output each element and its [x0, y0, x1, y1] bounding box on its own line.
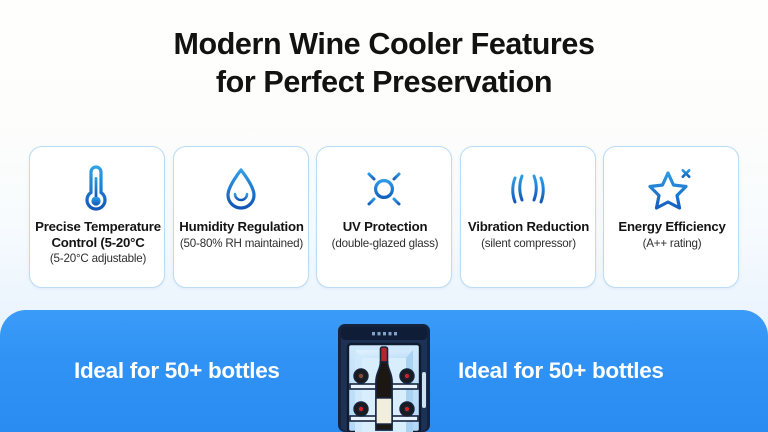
feature-card-subtitle: (A++ rating) [596, 236, 748, 251]
feature-card-humidity-regulation[interactable]: Humidity Regulation (50-80% RH maintaine… [173, 146, 309, 288]
sun-icon [317, 161, 451, 217]
feature-card-title: Vibration Reduction [453, 219, 605, 235]
feature-card-text: Vibration Reduction (silent compressor) [453, 219, 605, 251]
feature-card-precise-temperature-control[interactable]: Precise Temperature Control (5-20°C (5-2… [29, 146, 165, 288]
page-title: Modern Wine Cooler Features for Perfect … [0, 25, 768, 101]
feature-card-subtitle: (silent compressor) [453, 236, 605, 251]
banner-text-right: Ideal for 50+ bottles [458, 358, 664, 384]
feature-card-subtitle: (50-80% RH maintained) [166, 236, 318, 251]
feature-card-subtitle: (double-glazed glass) [309, 236, 461, 251]
feature-card-subtitle: (5-20°C adjustable) [22, 251, 174, 266]
feature-card-text: Energy Efficiency (A++ rating) [596, 219, 748, 251]
vibration-icon [461, 161, 595, 217]
feature-card-text: Humidity Regulation (50-80% RH maintaine… [166, 219, 318, 251]
wine-cooler-illustration [328, 320, 440, 432]
star-sparkle-icon [604, 161, 738, 217]
page-title-line-1: Modern Wine Cooler Features [0, 25, 768, 63]
feature-card-vibration-reduction[interactable]: Vibration Reduction (silent compressor) [460, 146, 596, 288]
feature-card-title: Energy Efficiency [596, 219, 748, 235]
water-drop-icon [174, 161, 308, 217]
feature-card-uv-protection[interactable]: UV Protection (double-glazed glass) [316, 146, 452, 288]
feature-card-text: UV Protection (double-glazed glass) [309, 219, 461, 251]
wine-cooler-feature-poster: Modern Wine Cooler Features for Perfect … [0, 0, 768, 432]
feature-card-text: Precise Temperature Control (5-20°C (5-2… [22, 219, 174, 266]
feature-card-title: Precise Temperature Control (5-20°C [22, 219, 174, 250]
feature-card-title: UV Protection [309, 219, 461, 235]
feature-card-energy-efficiency[interactable]: Energy Efficiency (A++ rating) [603, 146, 739, 288]
feature-card-row: Precise Temperature Control (5-20°C (5-2… [29, 146, 739, 288]
feature-card-title: Humidity Regulation [166, 219, 318, 235]
banner-text-left: Ideal for 50+ bottles [74, 358, 280, 384]
thermometer-icon [30, 161, 164, 217]
page-title-line-2: for Perfect Preservation [0, 63, 768, 101]
